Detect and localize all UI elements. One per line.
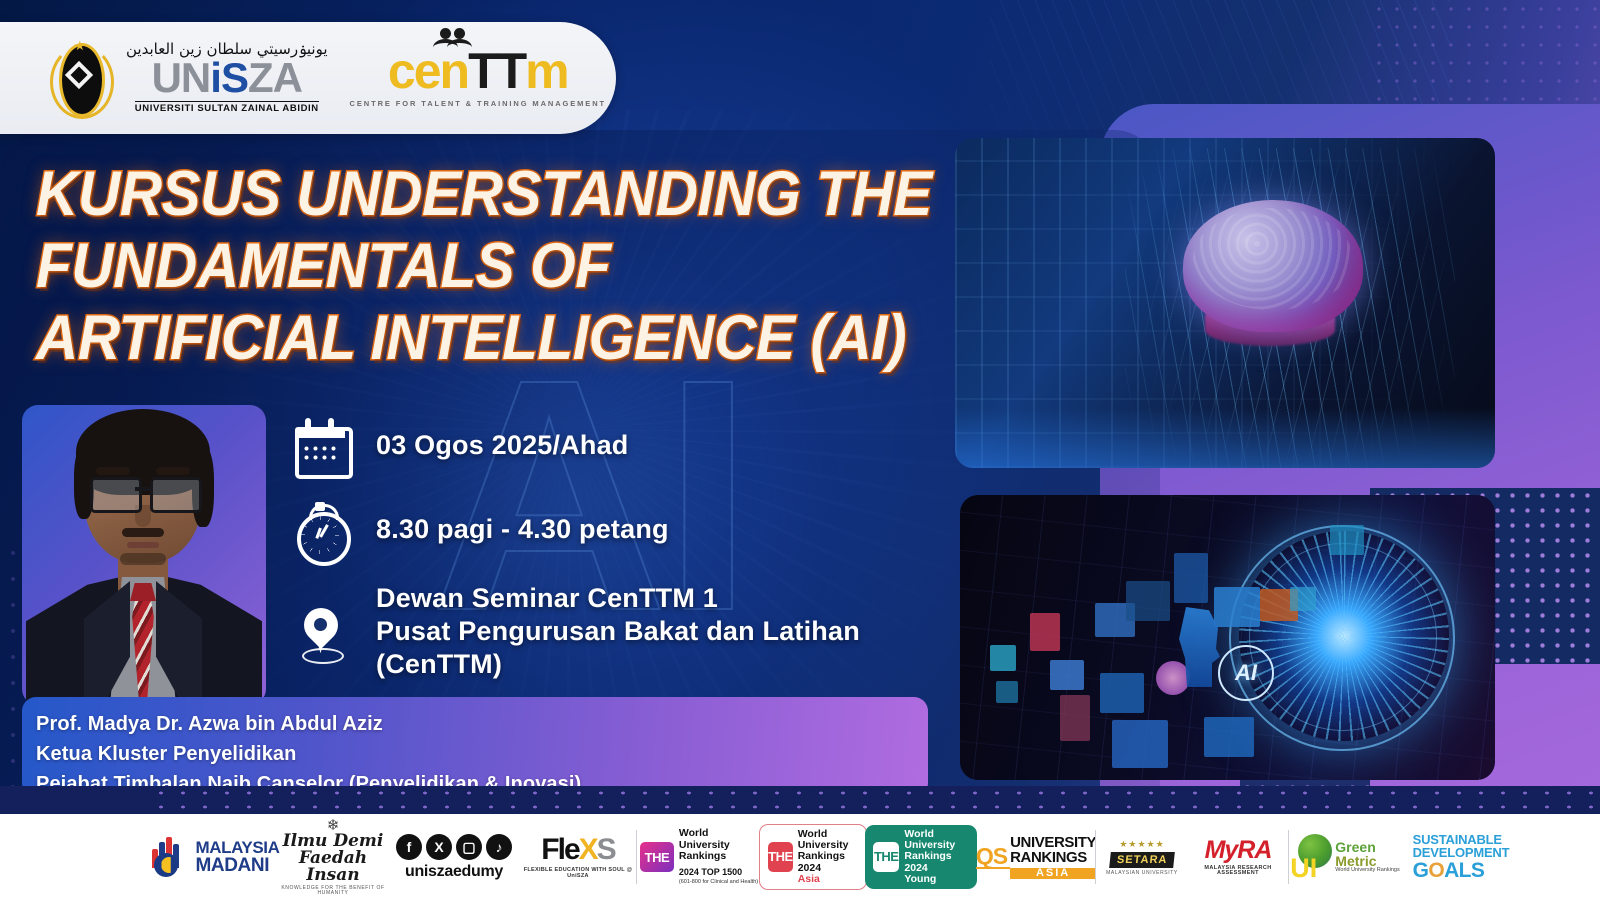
- poster-root: AI AI ★: [0, 0, 1600, 900]
- media-image-brain: [955, 138, 1495, 468]
- event-time: 8.30 pagi - 4.30 petang: [376, 513, 669, 546]
- event-details: 03 Ogos 2025/Ahad 8.30 pagi - 4.30 petan…: [290, 414, 970, 703]
- collage-tile: [1204, 717, 1254, 757]
- calendar-icon: [290, 414, 352, 476]
- collage-tile: [1214, 587, 1260, 627]
- setara-sub: MALAYSIAN UNIVERSITY: [1106, 870, 1178, 876]
- footer-ui-greenmetric: UI Green Metric World University Ranking…: [1289, 814, 1401, 900]
- footer-flexs: FleXS FLEXIBLE EDUCATION WITH SOUL @ Uni…: [520, 814, 636, 900]
- ai-badge: AI: [1218, 645, 1274, 701]
- setara-stars-icon: ★★★★★: [1106, 839, 1178, 850]
- sdg-l1: SUSTAINABLE: [1413, 833, 1510, 847]
- collage-tile: [1050, 660, 1084, 690]
- centtm-subtitle: CENTRE FOR TALENT & TRAINING MANAGEMENT: [350, 100, 606, 108]
- collage-tile: [1156, 661, 1190, 695]
- eyeglasses-icon: [90, 477, 142, 513]
- footer-logo-strip: MALAYSIA MADANI ❄ Ilmu Demi Faedah Insan…: [0, 814, 1600, 900]
- media-image-ai-collage: AI: [960, 495, 1495, 780]
- event-venue: Dewan Seminar CenTTM 1 Pusat Pengurusan …: [376, 582, 970, 681]
- sdg-wheel-icon: O: [1428, 859, 1444, 882]
- the-asia-l3: Asia: [798, 874, 858, 885]
- venue-line-1: Dewan Seminar CenTTM 1: [376, 582, 970, 615]
- ilmu-sub: KNOWLEDGE FOR THE BENEFIT OF HUMANITY: [278, 886, 388, 896]
- collage-tile: [1126, 581, 1170, 621]
- unisza-crest-icon: ★: [50, 39, 108, 117]
- qs-l2: RANKINGS: [1010, 850, 1096, 865]
- footer-social: f X ▢ ♪ uniszaedumy: [388, 814, 520, 900]
- the-young-l2: Rankings 2024: [904, 851, 969, 874]
- collage-tile: [1112, 720, 1168, 768]
- detail-row-venue: Dewan Seminar CenTTM 1 Pusat Pengurusan …: [290, 582, 970, 681]
- speaker-info-bar: Prof. Madya Dr. Azwa bin Abdul Aziz Ketu…: [22, 697, 928, 797]
- ui-mark: UI: [1290, 856, 1317, 880]
- greenmetric-green: Green: [1335, 840, 1399, 854]
- unisza-wordmark: UNiSZA: [152, 58, 302, 98]
- madani-line-1: MALAYSIA: [195, 839, 279, 856]
- the-young-l1: World University: [904, 829, 969, 852]
- title-line-2: FUNDAMENTALS OF: [36, 230, 901, 302]
- divider-band-dots: [150, 786, 1600, 814]
- sdg-l3: GOALS: [1413, 860, 1510, 882]
- collage-tile: [1290, 587, 1316, 611]
- footer-myra: MyRA MALAYSIA RESEARCH ASSESSMENT: [1188, 814, 1288, 900]
- centtm-wordmark: cenTTm: [388, 48, 568, 94]
- detail-row-time: 8.30 pagi - 4.30 petang: [290, 498, 970, 560]
- x-twitter-icon[interactable]: X: [426, 834, 452, 860]
- collage-tile: [1030, 613, 1060, 651]
- myra-wordmark: MyRA: [1188, 838, 1288, 863]
- malaysia-madani-icon: [148, 837, 188, 877]
- collage-tile: [1330, 525, 1364, 555]
- footer-ilmu-tagline: ❄ Ilmu Demi Faedah Insan KNOWLEDGE FOR T…: [278, 814, 388, 900]
- event-date: 03 Ogos 2025/Ahad: [376, 429, 629, 462]
- energy-burst: [1239, 531, 1449, 741]
- the-fine: (601-800 for Clinical and Health): [679, 880, 758, 886]
- qs-region: ASIA: [1010, 868, 1096, 879]
- footer-the-asia: THE World University Rankings 2024 Asia: [761, 814, 865, 900]
- header-logo-bar: ★ يونيۏرسيتي سلطان زين العابدين UNiSZA U…: [0, 22, 616, 134]
- unisza-logo: يونيۏرسيتي سلطان زين العابدين UNiSZA UNI…: [126, 42, 328, 114]
- the-year: 2024 TOP 1500: [679, 867, 742, 877]
- footer-the-world-rankings: THE World University Rankings 2024 TOP 1…: [637, 814, 761, 900]
- social-handle: uniszaedumy: [396, 864, 512, 880]
- qs-l1: UNIVERSITY: [1010, 835, 1096, 850]
- speaker-role: Ketua Kluster Penyelidikan: [36, 739, 928, 769]
- speaker-name: Prof. Madya Dr. Azwa bin Abdul Aziz: [36, 709, 928, 739]
- setara-name: SETARA: [1109, 852, 1175, 868]
- footer-malaysia-madani: MALAYSIA MADANI: [150, 814, 278, 900]
- the-asia-l2: Rankings 2024: [798, 851, 858, 874]
- desk-glow: [955, 408, 1495, 468]
- the-asia-logo-icon: THE: [768, 842, 793, 872]
- flexs-wordmark: FleXS: [520, 835, 636, 865]
- footer-sdg: SUSTAINABLE DEVELOPMENT GOALS: [1401, 814, 1521, 900]
- centtm-logo: cenTTm CENTRE FOR TALENT & TRAINING MANA…: [350, 48, 606, 108]
- footer-setara: ★★★★★ SETARA MALAYSIAN UNIVERSITY: [1096, 814, 1188, 900]
- the-logo-icon: THE: [640, 842, 674, 872]
- the-asia-l1: World University: [798, 829, 858, 852]
- stopwatch-icon: [290, 498, 352, 560]
- the-l3: Rankings: [679, 851, 758, 862]
- greenmetric-metric: Metric: [1335, 854, 1399, 868]
- brain-graphic: [1183, 200, 1363, 332]
- the-young-l3: Young: [904, 874, 969, 885]
- collage-tile: [1100, 673, 1144, 713]
- background-dots-top-right: [1370, 0, 1600, 120]
- collage-tile: [1060, 695, 1090, 741]
- location-pin-icon: [290, 600, 352, 662]
- qs-logo-icon: QS: [976, 845, 1010, 869]
- venue-line-2: Pusat Pengurusan Bakat dan Latihan (CenT…: [376, 615, 970, 681]
- centtm-people-icon: [440, 28, 465, 39]
- tiktok-icon[interactable]: ♪: [486, 834, 512, 860]
- collage-tile: [990, 645, 1016, 671]
- greenmetric-fine: World University Rankings: [1335, 868, 1399, 874]
- footer-qs-rankings: QS UNIVERSITY RANKINGS ASIA: [977, 814, 1095, 900]
- facebook-icon[interactable]: f: [396, 834, 422, 860]
- sdg-l2: DEVELOPMENT: [1413, 846, 1510, 860]
- instagram-icon[interactable]: ▢: [456, 834, 482, 860]
- madani-line-2: MADANI: [195, 856, 279, 875]
- collage-tile: [996, 681, 1018, 703]
- collage-tile: [1174, 553, 1208, 603]
- poster-title: KURSUS UNDERSTANDING THE FUNDAMENTALS OF…: [36, 158, 966, 374]
- flexs-sub: FLEXIBLE EDUCATION WITH SOUL @ UniSZA: [520, 868, 636, 879]
- title-line-1: KURSUS UNDERSTANDING THE: [36, 158, 901, 230]
- myra-sub: MALAYSIA RESEARCH ASSESSMENT: [1188, 866, 1288, 877]
- footer-the-young: THE World University Rankings 2024 Young: [865, 814, 977, 900]
- unisza-subtitle: UNIVERSITI SULTAN ZAINAL ABIDIN: [135, 101, 319, 114]
- ilmu-line-2: Faedah Insan: [278, 850, 388, 884]
- detail-row-date: 03 Ogos 2025/Ahad: [290, 414, 970, 476]
- the-young-logo-icon: THE: [873, 842, 899, 872]
- title-line-3: ARTIFICIAL INTELLIGENCE (AI): [36, 302, 901, 374]
- speaker-portrait: [22, 405, 266, 705]
